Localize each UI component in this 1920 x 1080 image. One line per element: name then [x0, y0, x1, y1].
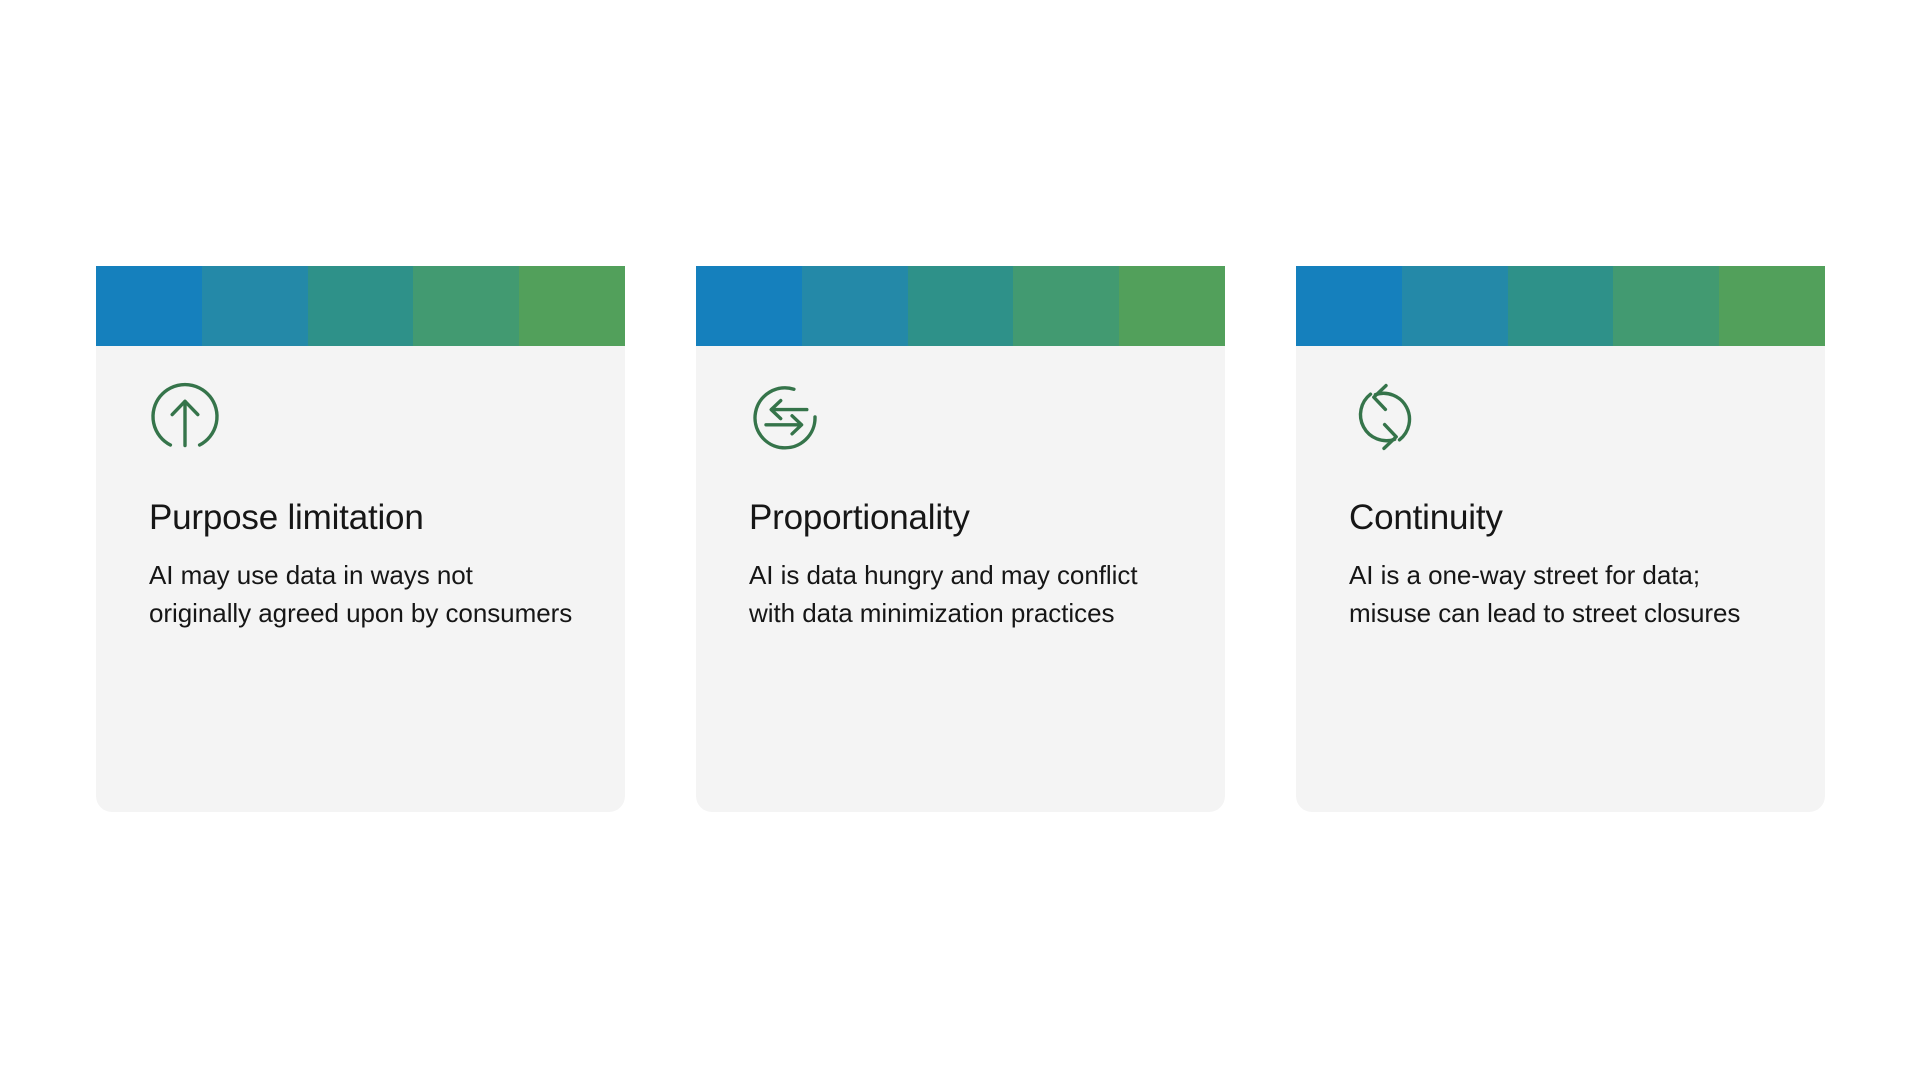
card-title: Continuity [1349, 497, 1785, 538]
gradient-segment-3 [908, 266, 1014, 346]
card-description: AI is a one-way street for data; misuse … [1349, 557, 1779, 632]
infographic-canvas: Purpose limitation AI may use data in wa… [0, 0, 1920, 1080]
card-grid: Purpose limitation AI may use data in wa… [96, 266, 1825, 812]
gradient-segment-3 [1508, 266, 1614, 346]
gradient-segment-2 [1402, 266, 1508, 346]
two-way-arrows-in-circle-icon [749, 381, 821, 453]
card-description: AI is data hungry and may conflict with … [749, 557, 1179, 632]
gradient-segment-1 [96, 266, 202, 346]
gradient-bar [96, 266, 625, 346]
gradient-segment-1 [1296, 266, 1402, 346]
gradient-segment-3 [308, 266, 414, 346]
gradient-segment-5 [1719, 266, 1825, 346]
gradient-segment-2 [202, 266, 308, 346]
gradient-segment-5 [519, 266, 625, 346]
gradient-segment-1 [696, 266, 802, 346]
card-body: Continuity AI is a one-way street for da… [1296, 346, 1825, 812]
card-proportionality[interactable]: Proportionality AI is data hungry and ma… [696, 266, 1225, 812]
gradient-segment-4 [413, 266, 519, 346]
card-title: Purpose limitation [149, 497, 585, 538]
card-continuity[interactable]: Continuity AI is a one-way street for da… [1296, 266, 1825, 812]
card-title: Proportionality [749, 497, 1185, 538]
refresh-cycle-arrows-icon [1349, 381, 1421, 453]
arrow-up-in-circle-icon [149, 381, 221, 453]
card-purpose-limitation[interactable]: Purpose limitation AI may use data in wa… [96, 266, 625, 812]
card-body: Purpose limitation AI may use data in wa… [96, 346, 625, 812]
gradient-segment-2 [802, 266, 908, 346]
gradient-segment-4 [1013, 266, 1119, 346]
gradient-segment-5 [1119, 266, 1225, 346]
gradient-segment-4 [1613, 266, 1719, 346]
card-body: Proportionality AI is data hungry and ma… [696, 346, 1225, 812]
gradient-bar [1296, 266, 1825, 346]
gradient-bar [696, 266, 1225, 346]
card-description: AI may use data in ways not originally a… [149, 557, 579, 632]
